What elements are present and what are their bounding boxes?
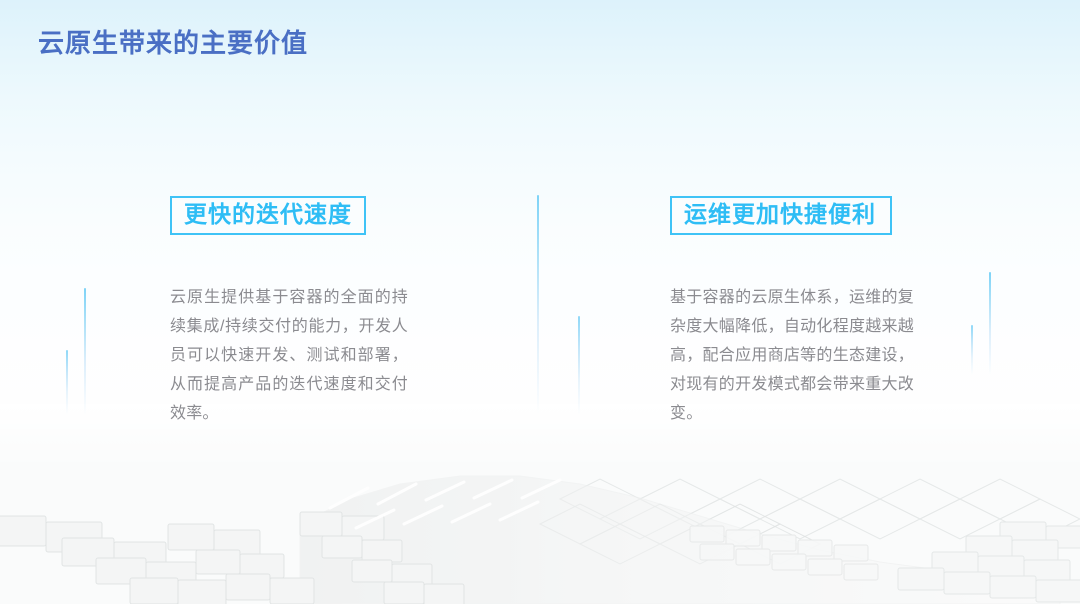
decor-rule-left-tall [84,288,86,415]
value-body-right: 基于容器的云原生体系，运维的复杂度大幅降低，自动化程度越来越高，配合应用商店等的… [670,283,914,428]
value-column-left: 更快的迭代速度 云原生提供基于容器的全面的持续集成/持续交付的能力，开发人员可以… [170,196,420,428]
decor-rule-right-short [971,325,973,375]
decor-rule-mid-short [578,316,580,415]
slide-canvas: 云原生带来的主要价值 更快的迭代速度 云原生提供基于容器的全面的持续集成/持续交… [0,0,1080,604]
value-heading-right: 运维更加快捷便利 [670,196,892,235]
value-body-left: 云原生提供基于容器的全面的持续集成/持续交付的能力，开发人员可以快速开发、测试和… [170,283,408,428]
decor-rule-mid-tall [537,195,539,415]
decor-rule-left-short [66,350,68,415]
page-title: 云原生带来的主要价值 [38,23,308,60]
value-heading-left: 更快的迭代速度 [170,196,366,235]
decor-rule-right-tall [989,272,991,375]
cube-landscape-artwork [0,404,1080,604]
value-column-right: 运维更加快捷便利 基于容器的云原生体系，运维的复杂度大幅降低，自动化程度越来越高… [670,196,920,428]
